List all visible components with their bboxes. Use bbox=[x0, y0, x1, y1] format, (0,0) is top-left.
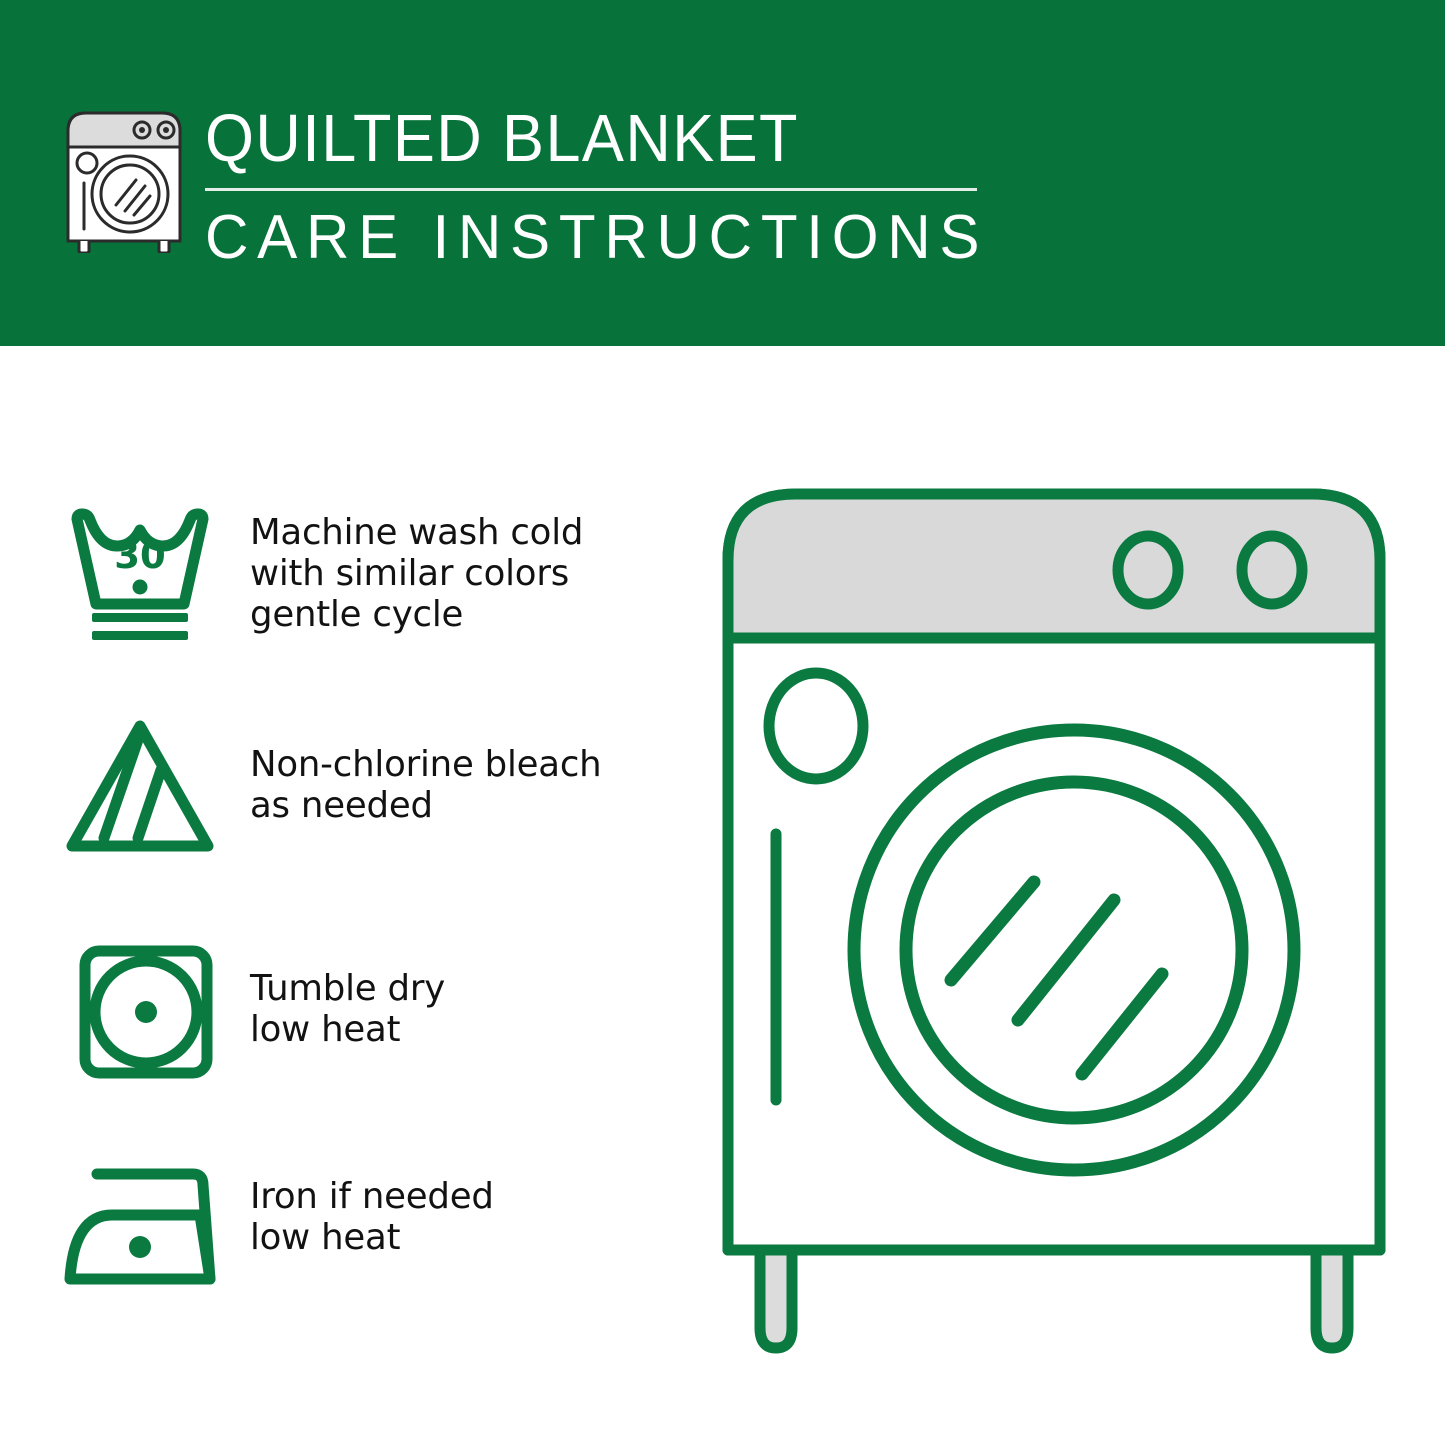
care-row-iron: Iron if needed low heat bbox=[60, 1152, 700, 1300]
iron-low-heat-icon bbox=[60, 1152, 240, 1300]
wash-tub-30-gentle-icon: 30 bbox=[60, 500, 240, 648]
header-text-block: QUILTED BLANKET CARE INSTRUCTIONS bbox=[205, 100, 995, 273]
washer-control-panel bbox=[728, 494, 1380, 638]
page-subtitle: CARE INSTRUCTIONS bbox=[205, 203, 971, 273]
care-label-line: Iron if needed bbox=[250, 1176, 700, 1217]
non-chlorine-bleach-triangle-icon bbox=[60, 712, 240, 860]
care-label-machine-wash: Machine wash cold with similar colors ge… bbox=[240, 500, 700, 635]
care-label-line: as needed bbox=[250, 785, 700, 826]
washing-machine-icon bbox=[62, 103, 186, 253]
washer-legs bbox=[760, 1244, 1348, 1348]
care-label-iron: Iron if needed low heat bbox=[240, 1152, 700, 1258]
care-label-line: low heat bbox=[250, 1217, 700, 1258]
care-label-line: Machine wash cold bbox=[250, 512, 700, 553]
care-label-line: Tumble dry bbox=[250, 968, 700, 1009]
care-label-tumble-dry: Tumble dry low heat bbox=[240, 938, 700, 1050]
care-label-bleach: Non-chlorine bleach as needed bbox=[240, 712, 700, 826]
care-row-machine-wash: 30 Machine wash cold with similar colors… bbox=[60, 500, 700, 648]
tumble-dry-low-icon bbox=[60, 938, 240, 1086]
care-label-line: low heat bbox=[250, 1009, 700, 1050]
care-label-line: Non-chlorine bleach bbox=[250, 744, 700, 785]
care-row-bleach: Non-chlorine bleach as needed bbox=[60, 712, 700, 860]
care-instructions-card: QUILTED BLANKET CARE INSTRUCTIONS 30 Mac… bbox=[0, 0, 1445, 1445]
care-row-tumble-dry: Tumble dry low heat bbox=[60, 938, 700, 1086]
care-label-line: gentle cycle bbox=[250, 594, 700, 635]
front-load-washing-machine-illustration bbox=[718, 482, 1390, 1358]
page-title: QUILTED BLANKET bbox=[205, 100, 948, 178]
title-divider bbox=[205, 188, 977, 191]
header-band: QUILTED BLANKET CARE INSTRUCTIONS bbox=[0, 0, 1445, 346]
care-label-line: with similar colors bbox=[250, 553, 700, 594]
svg-text:30: 30 bbox=[114, 534, 166, 577]
